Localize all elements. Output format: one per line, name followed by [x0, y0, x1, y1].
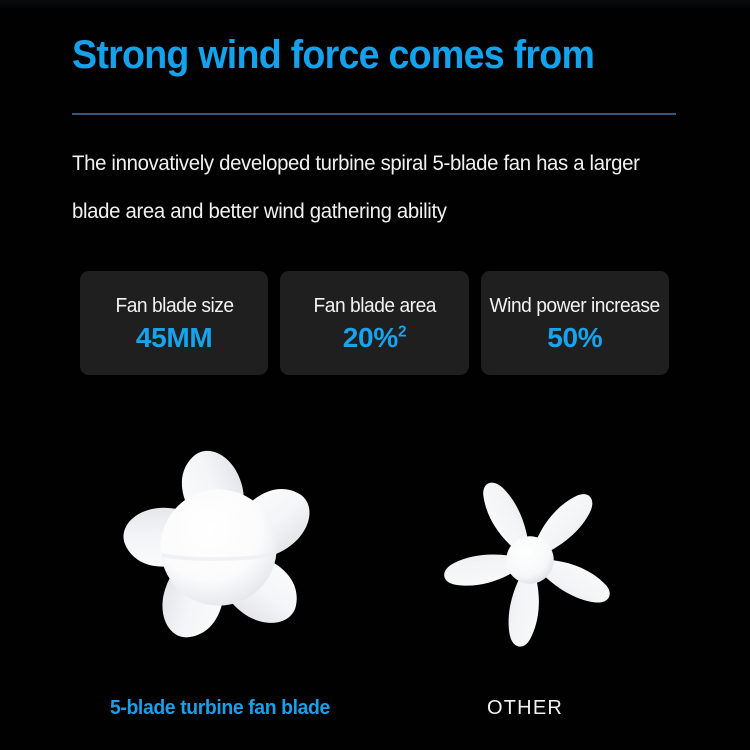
promo-page: Strong wind force comes from The innovat… [0, 0, 750, 750]
stat-card-group: Fan blade size 45MM Fan blade area 20%2 … [80, 271, 669, 375]
standard-fan-blade-icon [435, 465, 625, 655]
stat-card-fan-blade-size: Fan blade size 45MM [80, 271, 268, 375]
caption-turbine-fan: 5-blade turbine fan blade [110, 697, 330, 720]
stat-card-value-text: 45MM [136, 322, 213, 353]
caption-other-fan: OTHER [487, 697, 563, 720]
stat-card-label: Wind power increase [490, 295, 660, 317]
top-edge-sheen [0, 0, 750, 10]
stat-card-value-text: 20% [343, 322, 398, 353]
stat-card-value: 45MM [136, 320, 213, 355]
fan-comparison-row [0, 425, 750, 680]
turbine-spiral-fan-blade-icon [108, 435, 333, 660]
stat-card-value-superscript: 2 [398, 324, 406, 341]
stat-card-value: 20%2 [343, 320, 406, 355]
stat-card-value-text: 50% [547, 322, 602, 353]
stat-card-value: 50% [547, 320, 602, 355]
stat-card-fan-blade-area: Fan blade area 20%2 [280, 271, 468, 375]
page-subtitle: The innovatively developed turbine spira… [72, 140, 673, 236]
stat-card-label: Fan blade area [313, 295, 435, 317]
page-title: Strong wind force comes from [72, 33, 594, 78]
stat-card-wind-power-increase: Wind power increase 50% [481, 271, 669, 375]
stat-card-label: Fan blade size [115, 295, 233, 317]
title-divider [72, 113, 676, 115]
